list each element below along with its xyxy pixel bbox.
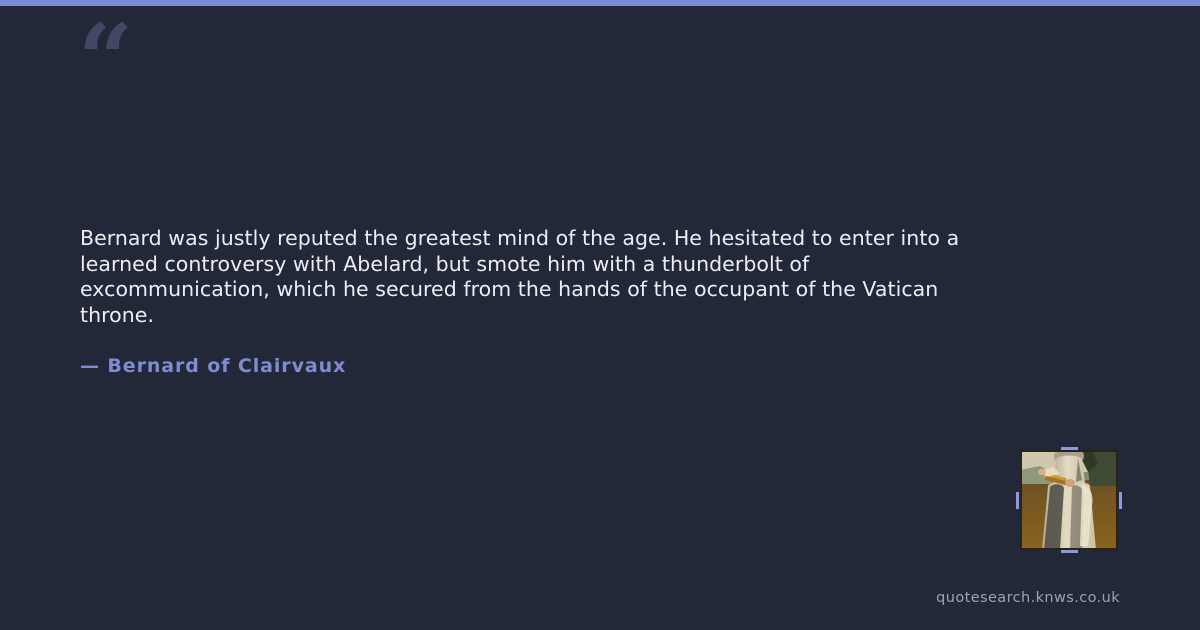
portrait-image <box>1020 450 1118 550</box>
quote-card: “ Bernard was justly reputed the greates… <box>0 0 1200 630</box>
site-url: quotesearch.knws.co.uk <box>936 590 1120 606</box>
thumbnail-accent-bottom <box>1061 550 1078 553</box>
thumbnail-accent-top <box>1061 447 1078 450</box>
quote-attribution: — Bernard of Clairvaux <box>80 355 346 377</box>
thumbnail-accent-right <box>1119 492 1122 509</box>
portrait-thumbnail <box>1020 450 1118 550</box>
thumbnail-accent-left <box>1016 492 1019 509</box>
quotation-mark-icon: “ <box>78 12 131 108</box>
top-accent-bar <box>0 0 1200 6</box>
quote-text: Bernard was justly reputed the greatest … <box>80 226 990 328</box>
portrait-illustration <box>1020 450 1118 550</box>
